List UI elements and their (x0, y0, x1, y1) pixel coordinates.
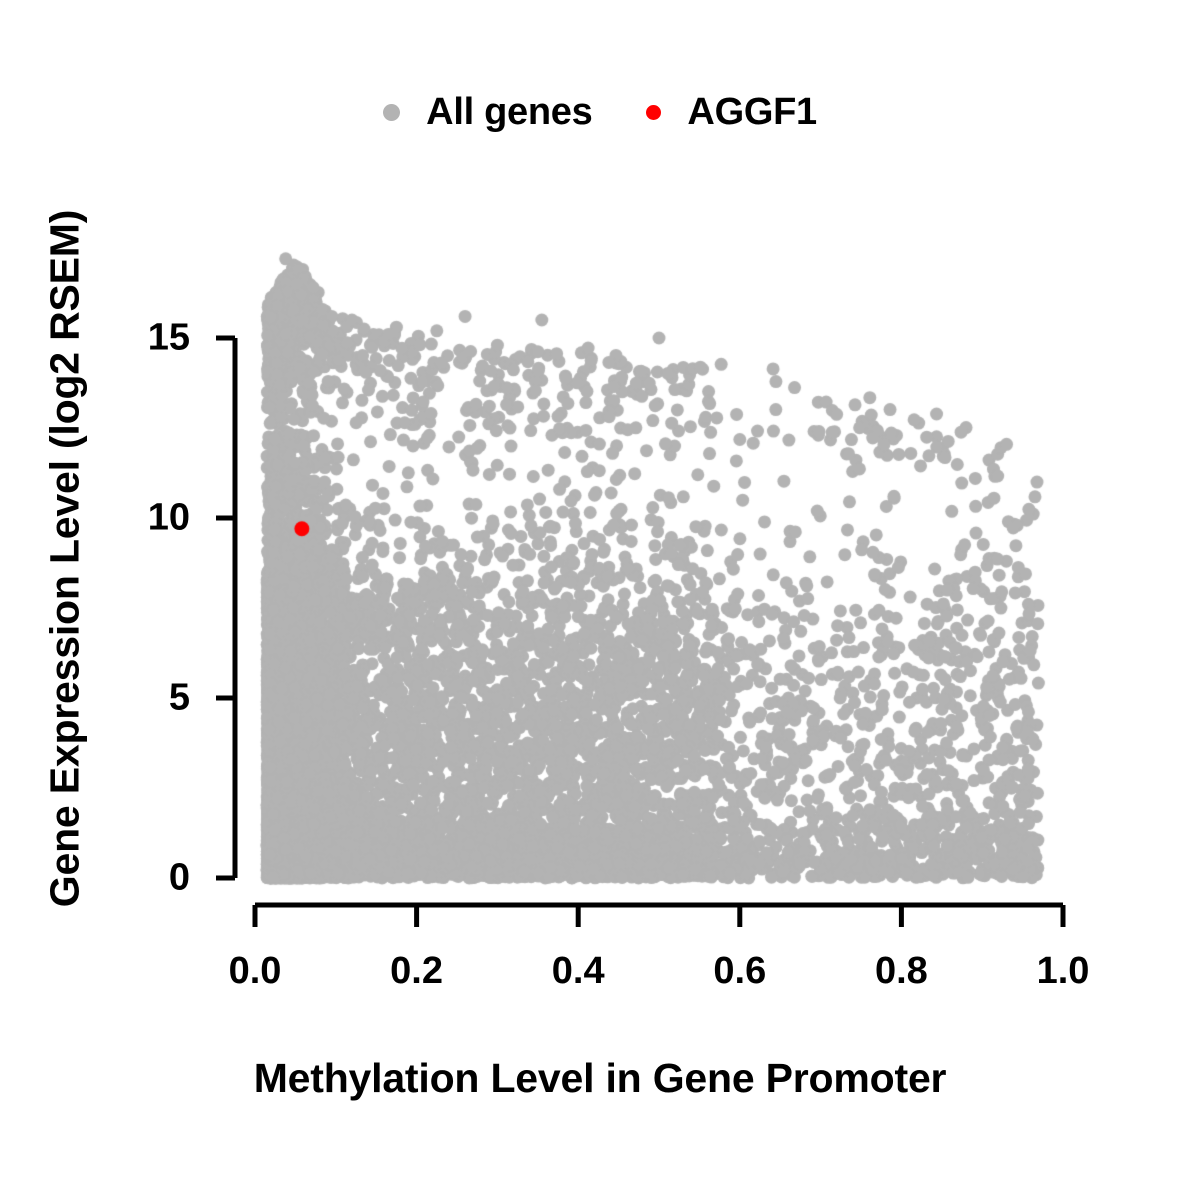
y-axis-title: Gene Expression Level (log2 RSEM) (42, 109, 89, 1009)
y-tick-label-1: 5 (100, 677, 190, 720)
x-tick-label-1: 0.2 (357, 950, 477, 993)
x-tick-label-2: 0.4 (518, 950, 638, 993)
x-tick-label-4: 0.8 (841, 950, 961, 993)
y-tick-label-2: 10 (100, 497, 190, 540)
y-tick-label-0: 0 (100, 857, 190, 900)
scatter-points-layer (0, 0, 1200, 1200)
x-tick-label-3: 0.6 (680, 950, 800, 993)
x-tick-label-5: 1.0 (1003, 950, 1123, 993)
x-axis-title: Methylation Level in Gene Promoter (0, 1055, 1200, 1102)
y-tick-label-3: 15 (100, 317, 190, 360)
x-tick-label-0: 0.0 (195, 950, 315, 993)
scatter-plot-figure: All genes AGGF1 051015 0.00.20.40.60.81.… (0, 0, 1200, 1200)
